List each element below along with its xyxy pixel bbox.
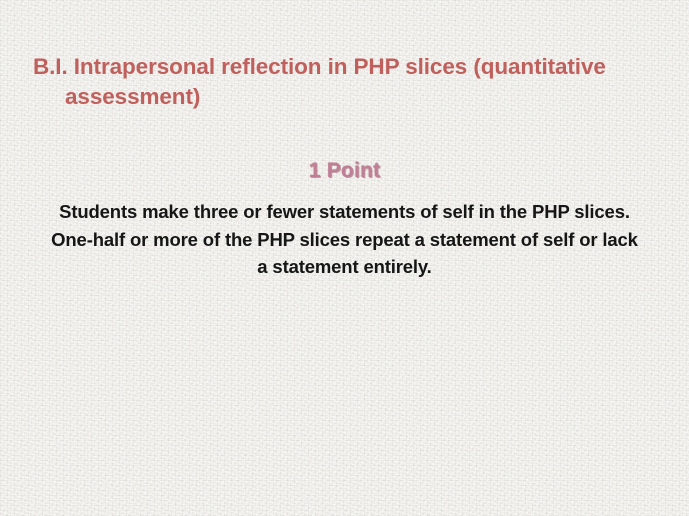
rubric-description-text: Students make three or fewer statements … — [46, 198, 643, 281]
presentation-slide: B.I. Intrapersonal reflection in PHP sli… — [0, 0, 689, 516]
slide-title: B.I. Intrapersonal reflection in PHP sli… — [33, 52, 647, 112]
slide-title-line-1: B.I. Intrapersonal reflection in PHP sli… — [33, 52, 647, 82]
point-value-heading: 1 Point — [0, 157, 689, 185]
slide-title-line-2: assessment) — [33, 82, 647, 112]
